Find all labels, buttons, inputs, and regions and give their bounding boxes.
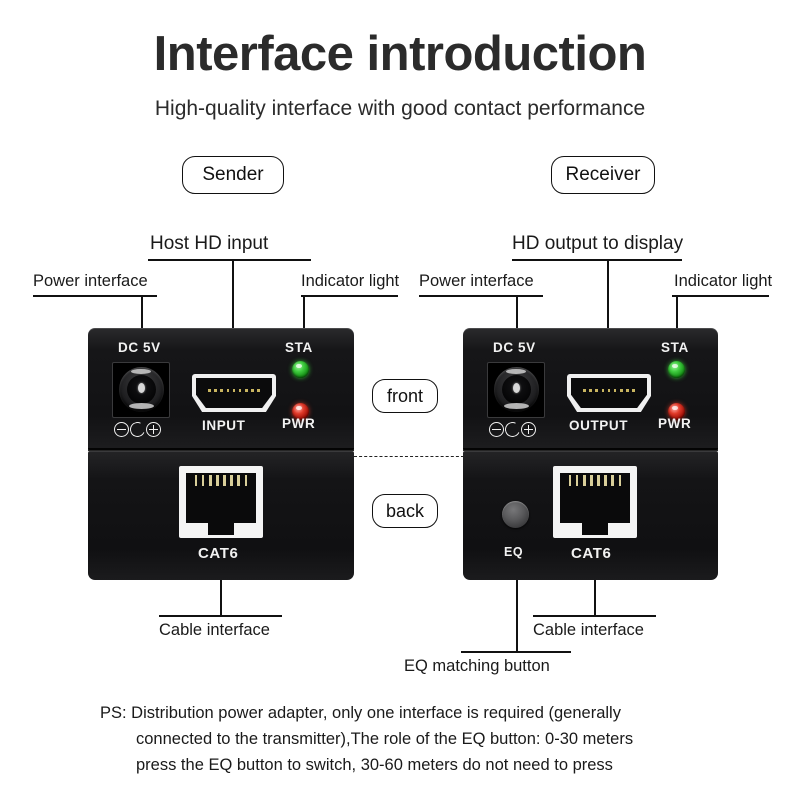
badge-receiver: Receiver: [551, 156, 655, 194]
receiver-led-sta-label: STA: [661, 340, 689, 355]
receiver-cable-overline: [533, 615, 656, 617]
badge-sender: Sender: [182, 156, 284, 194]
polarity-minus-icon: [489, 422, 504, 437]
sender-led-sta: [292, 361, 309, 378]
sender-callout-power: Power interface: [33, 272, 148, 291]
badge-front: front: [372, 379, 438, 413]
receiver-dc-jack-ring: [494, 367, 539, 412]
polarity-center-icon: [128, 420, 147, 439]
receiver-rj45-cavity: [560, 473, 630, 523]
sender-dc-jack-ring: [119, 367, 164, 412]
sender-polarity-symbols: [114, 422, 161, 437]
receiver-rj45-pins: [569, 475, 621, 486]
receiver-callout-indicator: Indicator light: [674, 272, 772, 291]
receiver-port-label: OUTPUT: [569, 418, 628, 433]
sender-rj45-shoulder-right: [234, 523, 256, 531]
sender-callout-hd-input: Host HD input: [150, 233, 268, 255]
receiver-rj45-shoulder-right: [608, 523, 630, 531]
receiver-rj45-shoulder-left: [560, 523, 582, 531]
receiver-eq-overline: [461, 651, 571, 653]
receiver-callout-power: Power interface: [419, 272, 534, 291]
receiver-power-underline: [419, 295, 543, 297]
receiver-cable-leader: [594, 580, 596, 616]
receiver-dc-jack: [487, 362, 545, 418]
sender-hd-input-underline: [148, 259, 311, 261]
sender-lan-label: CAT6: [198, 545, 238, 562]
polarity-minus-icon: [114, 422, 129, 437]
sender-rj45-shoulder-left: [186, 523, 208, 531]
sender-indicator-leader: [303, 295, 305, 328]
sender-led-sta-label: STA: [285, 340, 313, 355]
sender-rj45-cavity: [186, 473, 256, 523]
polarity-plus-icon: [146, 422, 161, 437]
receiver-rj45-port: [553, 466, 637, 538]
sender-rj45-port: [179, 466, 263, 538]
sender-cable-leader: [220, 580, 222, 616]
sender-dc-jack-arc-bottom: [129, 403, 154, 409]
receiver-hdmi-pins: [583, 389, 635, 392]
receiver-hd-output-leader: [607, 259, 609, 328]
receiver-back-panel: EQ CAT6: [463, 451, 718, 580]
sender-rj45-clip-notch: [208, 523, 234, 535]
page-title: Interface introduction: [0, 26, 800, 82]
receiver-polarity-symbols: [489, 422, 536, 437]
polarity-plus-icon: [521, 422, 536, 437]
receiver-eq-label: EQ: [504, 545, 523, 559]
sender-cable-overline: [159, 615, 282, 617]
sender-hd-input-leader: [232, 259, 234, 328]
sender-rj45-pins: [195, 475, 247, 486]
receiver-led-sta: [668, 361, 685, 378]
receiver-dc-jack-arc-top: [506, 369, 526, 374]
page-subtitle: High-quality interface with good contact…: [0, 97, 800, 121]
sender-back-panel: CAT6: [88, 451, 354, 580]
sender-power-underline: [33, 295, 157, 297]
receiver-indicator-leader: [676, 295, 678, 328]
receiver-callout-cable: Cable interface: [533, 621, 644, 640]
sender-callout-indicator: Indicator light: [301, 272, 399, 291]
receiver-dc-jack-barrel: [502, 375, 531, 404]
ps-note-line-2: connected to the transmitter),The role o…: [100, 726, 700, 752]
sender-front-panel: DC 5V INPUT: [88, 328, 354, 450]
receiver-hd-output-underline: [512, 259, 682, 261]
sender-dc-jack-arc-top: [131, 369, 151, 374]
receiver-lan-label: CAT6: [571, 545, 611, 562]
receiver-dc-jack-arc-bottom: [504, 403, 529, 409]
ps-note: PS: Distribution power adapter, only one…: [100, 700, 700, 778]
sender-dc-jack-pin: [138, 383, 145, 393]
sender-indicator-underline: [301, 295, 398, 297]
sender-hdmi-pins: [208, 389, 260, 392]
receiver-led-pwr-label: PWR: [658, 416, 691, 431]
ps-note-line-1: PS: Distribution power adapter, only one…: [100, 700, 700, 726]
eq-button[interactable]: [502, 501, 529, 528]
receiver-dc-label: DC 5V: [493, 340, 536, 355]
receiver-rj45-clip-notch: [582, 523, 608, 535]
receiver-front-panel: DC 5V OUTPUT STA P: [463, 328, 718, 450]
polarity-center-icon: [503, 420, 522, 439]
receiver-callout-hd-output: HD output to display: [512, 233, 683, 255]
sender-led-pwr-label: PWR: [282, 416, 315, 431]
receiver-dc-jack-pin: [513, 383, 520, 393]
badge-back: back: [372, 494, 438, 528]
sender-hdmi-port: [192, 374, 276, 412]
diagram-canvas: Interface introduction High-quality inte…: [0, 0, 800, 800]
receiver-callout-eq: EQ matching button: [404, 657, 550, 676]
sender-power-leader: [141, 295, 143, 328]
receiver-indicator-underline: [672, 295, 769, 297]
sender-dc-jack-barrel: [127, 375, 156, 404]
receiver-eq-leader: [516, 580, 518, 652]
sender-hdmi-cavity: [196, 378, 272, 408]
receiver-hdmi-port: [567, 374, 651, 412]
receiver-power-leader: [516, 295, 518, 328]
sender-dc-jack: [112, 362, 170, 418]
sender-callout-cable: Cable interface: [159, 621, 270, 640]
front-back-divider: [354, 456, 464, 457]
receiver-hdmi-cavity: [571, 378, 647, 408]
sender-dc-label: DC 5V: [118, 340, 161, 355]
sender-port-label: INPUT: [202, 418, 246, 433]
ps-note-line-3: press the EQ button to switch, 30-60 met…: [100, 752, 700, 778]
